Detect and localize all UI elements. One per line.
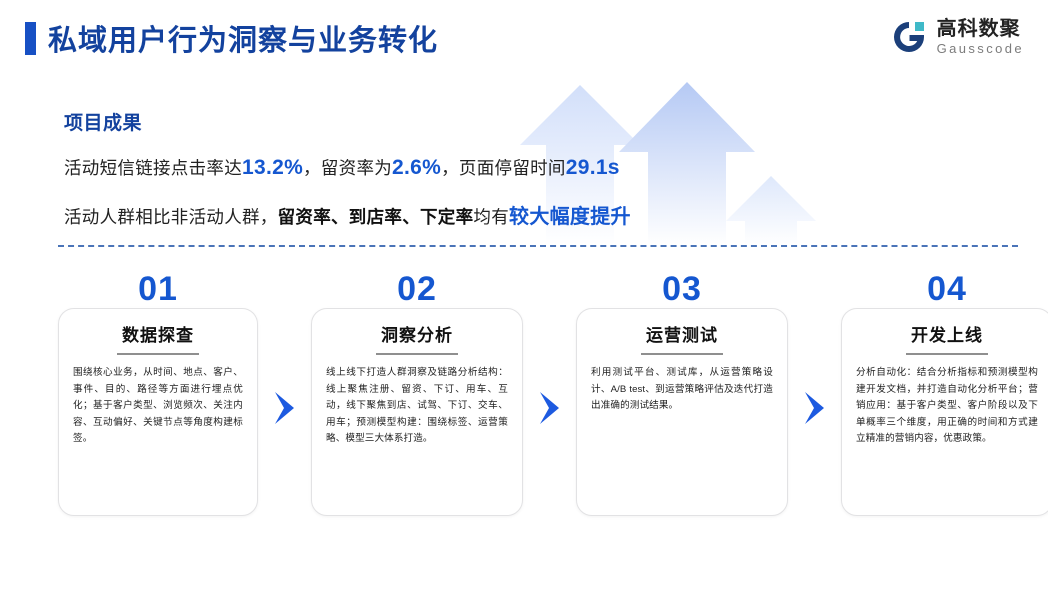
step-rule-03 xyxy=(641,353,723,355)
metric-click-rate: 13.2% xyxy=(242,156,303,179)
step-title-02: 洞察分析 xyxy=(326,321,508,346)
header: 私域用户行为洞察与业务转化 高科数聚 Gausscode xyxy=(0,0,1048,78)
step-title-01: 数据探查 xyxy=(73,321,243,346)
brand-logo: 高科数聚 Gausscode xyxy=(890,18,1024,56)
logo-name-cn: 高科数聚 xyxy=(937,19,1024,39)
step-card-02[interactable]: 02 洞察分析 线上线下打造人群洞察及链路分析结构：线上聚焦注册、留资、下订、用… xyxy=(311,272,523,516)
results-section: 项目成果 活动短信链接点击率达13.2%，留资率为2.6%，页面停留时间29.1… xyxy=(64,108,764,229)
steps-section: 01 数据探查 围绕核心业务，从时间、地点、客户、事件、目的、路径等方面进行埋点… xyxy=(58,272,1018,532)
step-card-04[interactable]: 04 开发上线 分析自动化：结合分析指标和预测模型构建开发文档，并打造自动化分析… xyxy=(841,272,1048,516)
results-line1-part2: ，留资率为 xyxy=(303,158,392,178)
metric-lead-rate: 2.6% xyxy=(392,156,441,179)
results-line2-part2: 均有 xyxy=(473,207,509,227)
step-card-01[interactable]: 01 数据探查 围绕核心业务，从时间、地点、客户、事件、目的、路径等方面进行埋点… xyxy=(58,272,258,516)
step-card-body-02[interactable]: 洞察分析 线上线下打造人群洞察及链路分析结构：线上聚焦注册、留资、下订、用车、互… xyxy=(311,308,523,516)
chevron-right-icon-3 xyxy=(802,390,828,426)
step-rule-04 xyxy=(906,353,988,355)
step-number-04: 04 xyxy=(841,272,1048,306)
step-rule-01 xyxy=(117,353,199,355)
results-line1-part3: ，页面停留时间 xyxy=(441,158,566,178)
chevron-right-icon-1 xyxy=(272,390,298,426)
step-number-02: 02 xyxy=(311,272,523,306)
gausscode-g-icon xyxy=(890,18,928,56)
slide-root: 私域用户行为洞察与业务转化 高科数聚 Gausscode 项目成果 活动短信链接… xyxy=(0,0,1048,591)
logo-name-en: Gausscode xyxy=(937,42,1024,55)
step-title-04: 开发上线 xyxy=(856,321,1038,346)
results-line2-part1: 活动人群相比非活动人群， xyxy=(64,207,278,227)
step-title-03: 运营测试 xyxy=(591,321,773,346)
results-line-1: 活动短信链接点击率达13.2%，留资率为2.6%，页面停留时间29.1s xyxy=(64,155,764,180)
results-line2-highlight: 较大幅度提升 xyxy=(509,206,631,228)
step-number-03: 03 xyxy=(576,272,788,306)
step-card-body-03[interactable]: 运营测试 利用测试平台、测试库，从运营策略设计、A/B test、到运营策略评估… xyxy=(576,308,788,516)
metric-dwell-time: 29.1s xyxy=(566,156,620,179)
step-card-body-04[interactable]: 开发上线 分析自动化：结合分析指标和预测模型构建开发文档，并打造自动化分析平台；… xyxy=(841,308,1048,516)
step-number-01: 01 xyxy=(58,272,258,306)
results-line1-part1: 活动短信链接点击率达 xyxy=(64,158,242,178)
step-text-03: 利用测试平台、测试库，从运营策略设计、A/B test、到运营策略评估及迭代打造… xyxy=(591,365,773,415)
step-card-body-01[interactable]: 数据探查 围绕核心业务，从时间、地点、客户、事件、目的、路径等方面进行埋点优化；… xyxy=(58,308,258,516)
title-accent-bar xyxy=(25,22,36,55)
results-heading: 项目成果 xyxy=(64,108,764,135)
step-text-01: 围绕核心业务，从时间、地点、客户、事件、目的、路径等方面进行埋点优化；基于客户类… xyxy=(73,365,243,448)
step-rule-02 xyxy=(376,353,458,355)
chevron-right-icon-2 xyxy=(537,390,563,426)
step-text-04: 分析自动化：结合分析指标和预测模型构建开发文档，并打造自动化分析平台；营销应用：… xyxy=(856,365,1038,448)
page-title: 私域用户行为洞察与业务转化 xyxy=(48,17,438,59)
step-card-03[interactable]: 03 运营测试 利用测试平台、测试库，从运营策略设计、A/B test、到运营策… xyxy=(576,272,788,516)
section-divider xyxy=(58,245,1018,247)
results-line2-emphasis: 留资率、到店率、下定率 xyxy=(278,207,474,227)
results-line-2: 活动人群相比非活动人群，留资率、到店率、下定率均有较大幅度提升 xyxy=(64,200,764,229)
step-text-02: 线上线下打造人群洞察及链路分析结构：线上聚焦注册、留资、下订、用车、互动，线下聚… xyxy=(326,365,508,448)
